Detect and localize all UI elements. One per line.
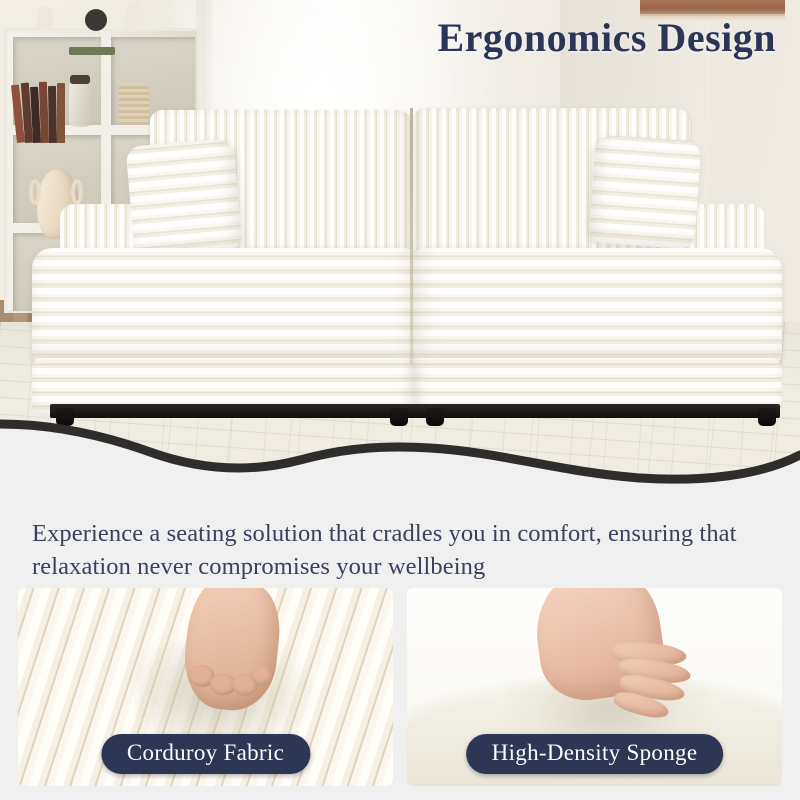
description-paragraph: Experience a seating solution that cradl… <box>32 518 784 583</box>
green-tray <box>69 47 115 55</box>
badge-corduroy-fabric: Corduroy Fabric <box>101 734 310 774</box>
feature-card-high-density-sponge[interactable]: High-Density Sponge <box>407 588 782 786</box>
hero-image-clip <box>0 0 800 500</box>
throw-pillow-right <box>588 134 701 249</box>
badge-high-density-sponge: High-Density Sponge <box>466 734 724 774</box>
feature-cards: Corduroy Fabric High-Density Sponge <box>18 588 782 786</box>
sofa <box>10 108 800 418</box>
sofa-leg <box>56 408 74 426</box>
sofa-center-seam <box>410 108 413 364</box>
sofa-leg <box>390 408 408 426</box>
jar-lid <box>70 75 90 84</box>
sofa-seat-cushion-left <box>32 248 414 364</box>
sofa-base-rail <box>50 404 780 418</box>
sofa-seat-cushion-right <box>414 248 782 364</box>
sofa-leg <box>426 408 444 426</box>
hero-section: Ergonomics Design <box>0 0 800 500</box>
living-room-scene <box>0 0 800 500</box>
page-title: Ergonomics Design <box>438 14 777 61</box>
sofa-leg <box>758 408 776 426</box>
feature-card-corduroy-fabric[interactable]: Corduroy Fabric <box>18 588 393 786</box>
throw-pillow-left <box>125 138 242 259</box>
product-feature-page: Ergonomics Design Experience a seating s… <box>0 0 800 800</box>
